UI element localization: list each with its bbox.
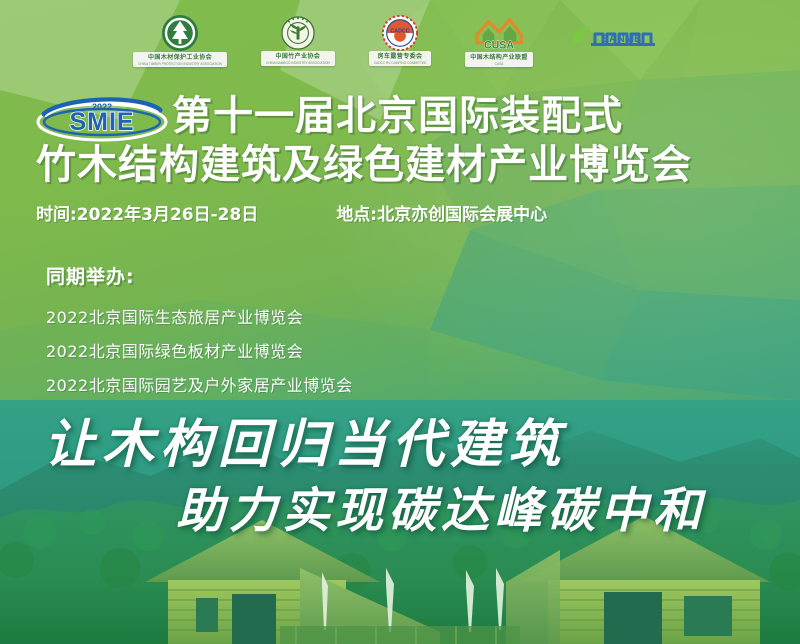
headline-line-2: 竹木结构建筑及绿色建材产业博览会 <box>36 140 800 190</box>
logo-china-bamboo-industry-association[interactable]: 中国竹产业协会 CHINA BAMBOO INDUSTRY ASSOCIATIO… <box>261 14 335 66</box>
slogan-line-2: 助力实现碳达峰碳中和 <box>176 482 800 540</box>
svg-text:SANMEI: SANMEI <box>601 33 644 45</box>
logo-china-wood-structure-industry-alliance[interactable]: CUSA 中国木结构产业联盟 CUSA <box>465 13 533 67</box>
house-cusa-logo-icon: CUSA <box>473 13 525 58</box>
concurrent-events: 同期举办: 2022北京国际生态旅居产业博览会 2022北京国际绿色板材产业博览… <box>46 264 353 403</box>
logo-strip: 中国木材保护工业协会 CHINA TIMBER PROTECTION INDUS… <box>0 0 800 80</box>
logo-cadcc-rv-camping-committee[interactable]: CADCC 房车露营专委会 CADCC RV CAMPING COMMITTEE <box>369 14 431 66</box>
svg-text:CADCC: CADCC <box>390 28 409 34</box>
event-date: 时间:2022年3月26日-28日 <box>36 203 258 227</box>
tree-shield-logo-icon <box>160 13 200 58</box>
concurrent-event-item: 2022北京国际园艺及户外家居产业博览会 <box>46 369 353 403</box>
event-meta: 时间:2022年3月26日-28日 地点:北京亦创国际会展中心 <box>36 203 776 227</box>
concurrent-event-item: 2022北京国际生态旅居产业博览会 <box>46 301 353 335</box>
sanmei-wordmark-logo-icon: SANMEI <box>567 21 667 60</box>
svg-text:CUSA: CUSA <box>484 39 514 51</box>
headline: 第十一届北京国际装配式 竹木结构建筑及绿色建材产业博览会 <box>0 92 800 190</box>
concurrent-event-item: 2022北京国际绿色板材产业博览会 <box>46 335 353 369</box>
slogan-line-1: 让木构回归当代建筑 <box>44 414 800 476</box>
logo-sanmei-brand[interactable]: SANMEI <box>567 21 667 60</box>
bamboo-seal-logo-icon <box>279 14 317 57</box>
concurrent-events-title: 同期举办: <box>46 264 353 290</box>
event-venue: 地点:北京亦创国际会展中心 <box>336 203 547 227</box>
slogan: 让木构回归当代建筑 助力实现碳达峰碳中和 <box>0 414 800 540</box>
logo-china-timber-protection-industry-association[interactable]: 中国木材保护工业协会 CHINA TIMBER PROTECTION INDUS… <box>133 13 227 67</box>
cadcc-badge-logo-icon: CADCC <box>381 14 419 57</box>
headline-line-1: 第十一届北京国际装配式 <box>172 92 800 140</box>
poster-banner: 中国木材保护工业协会 CHINA TIMBER PROTECTION INDUS… <box>0 0 800 644</box>
